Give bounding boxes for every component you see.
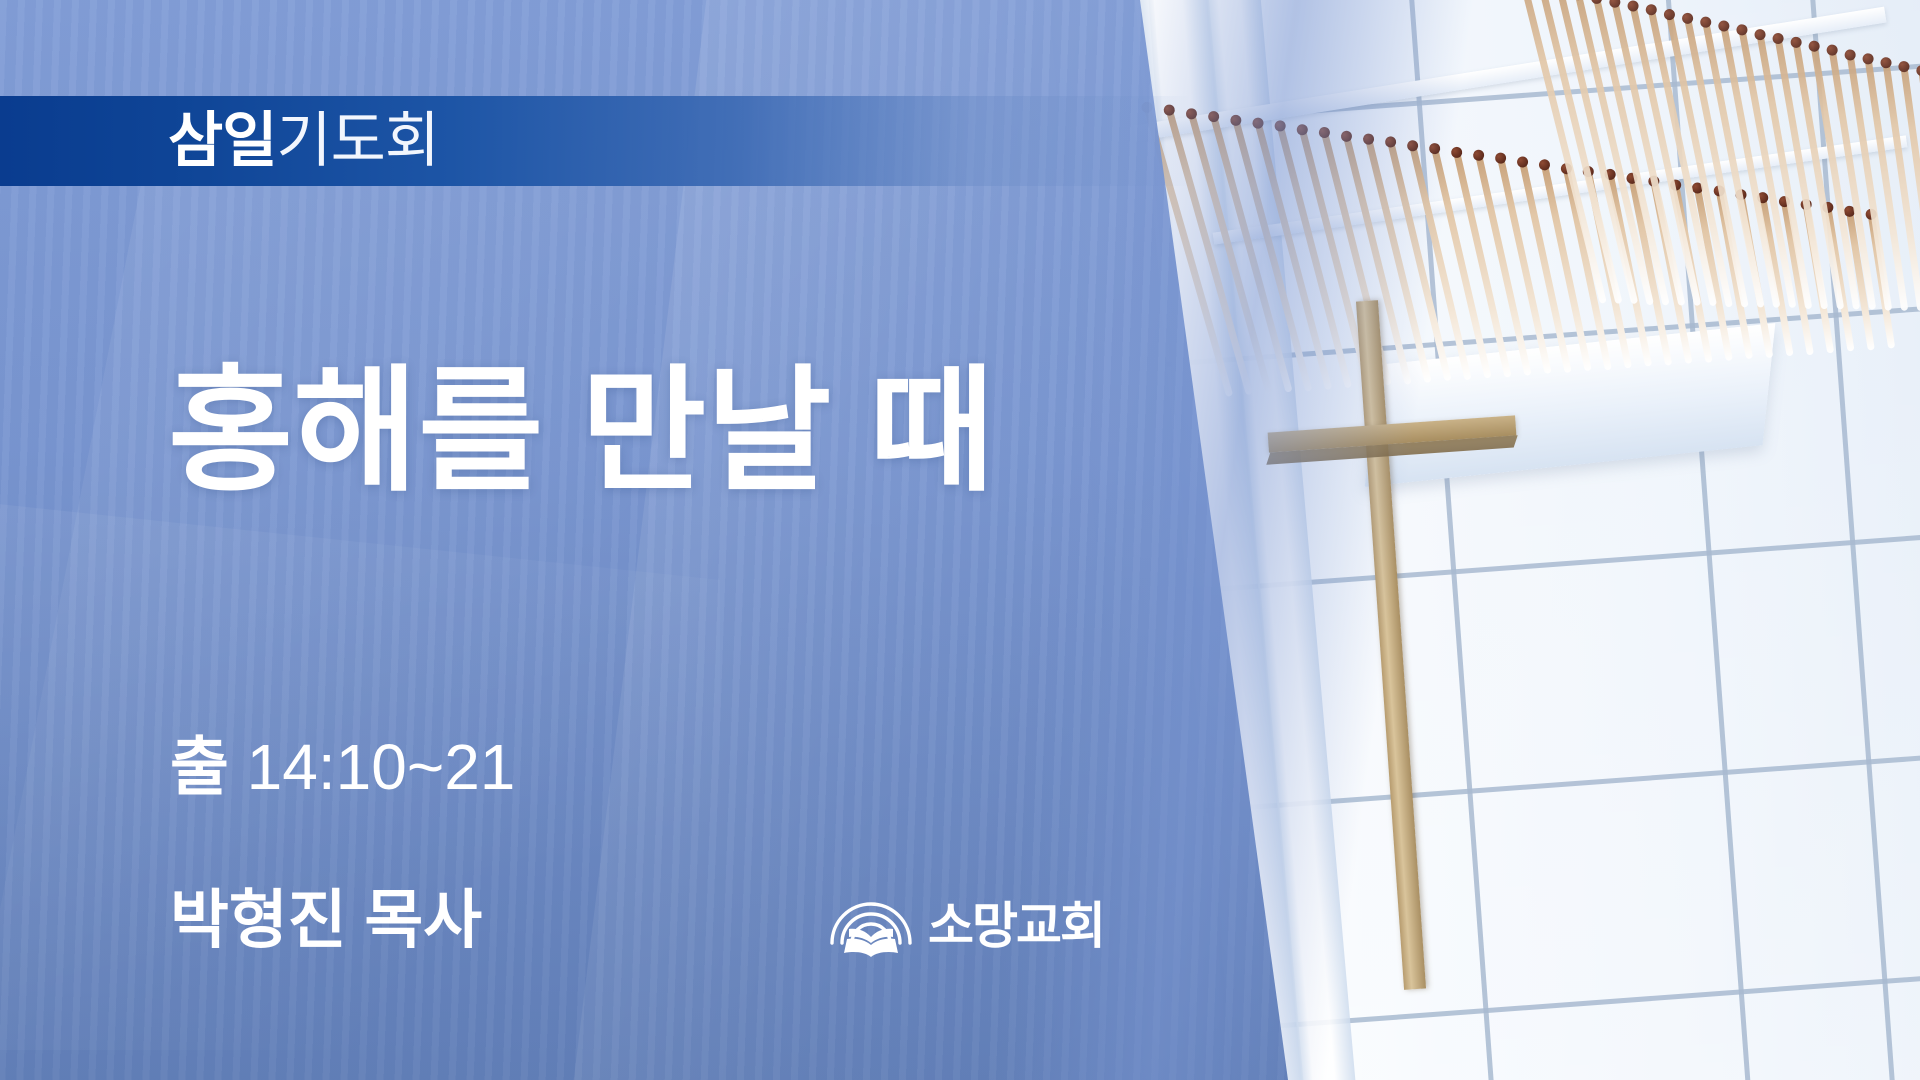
service-type-label-bold: 삼일 xyxy=(168,111,276,171)
service-type-label: 삼일기도회 xyxy=(168,96,439,186)
church-logo: 소망교회 xyxy=(828,893,1104,959)
sermon-title: 홍해를 만날 때 xyxy=(168,355,1168,507)
open-book-rainbow-icon xyxy=(828,893,914,959)
organ-pipe xyxy=(1233,120,1313,392)
organ-pipe xyxy=(1210,116,1292,393)
scripture-reference: 출 14:10~21 xyxy=(170,735,515,799)
service-type-label-light: 기도회 xyxy=(276,111,439,171)
church-name: 소망교회 xyxy=(928,901,1104,951)
service-type-banner: 삼일기도회 xyxy=(0,96,1190,186)
preacher-name: 박형진 목사 xyxy=(170,888,482,952)
scripture-verses: 14:10~21 xyxy=(229,731,516,803)
sermon-title-card: /* pipes injected below */ 삼일기도회 홍해를 만날 … xyxy=(0,0,1920,1080)
scripture-book: 출 xyxy=(170,731,229,803)
organ-pipe xyxy=(1629,178,1673,366)
